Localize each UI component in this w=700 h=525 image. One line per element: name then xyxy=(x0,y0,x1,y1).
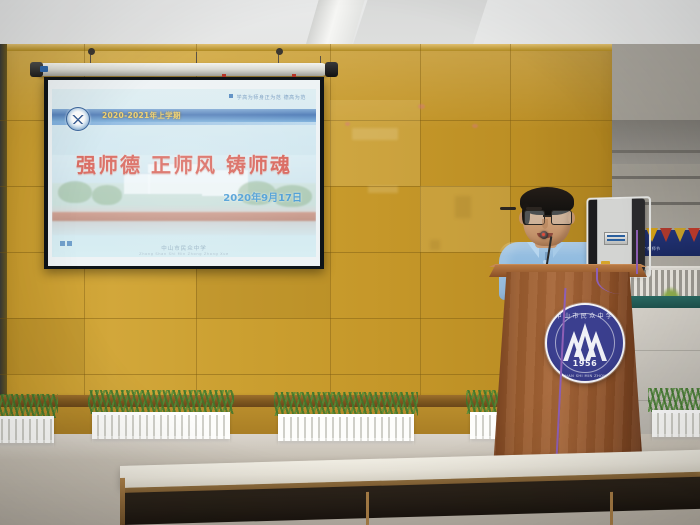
wall-stain xyxy=(430,240,440,250)
wall-mark xyxy=(472,124,478,128)
slide-motto: 学高为师身正为范 德高为范 xyxy=(229,94,306,101)
corridor-ceiling xyxy=(612,120,700,164)
bullet-square-icon xyxy=(229,94,233,98)
planter-grass xyxy=(0,394,58,418)
picket-fence-planter xyxy=(0,412,54,440)
speaker-eyebrow-left xyxy=(500,207,516,210)
campus-running-track xyxy=(52,212,316,221)
picket-fence-planter xyxy=(92,408,230,436)
microphone-led xyxy=(542,233,545,236)
screen-roller-housing[interactable] xyxy=(36,63,328,76)
picket-fence-planter xyxy=(278,410,414,438)
table-divider xyxy=(366,492,369,525)
planter-reflection xyxy=(0,440,54,448)
corridor-green-band xyxy=(628,296,700,308)
projection-screen[interactable]: 学高为师身正为范 德高为范 2020-2021年上学期 强师德 正师风 铸师魂 … xyxy=(48,80,320,266)
table-divider xyxy=(610,492,613,525)
planter-grass xyxy=(88,390,234,414)
planter-fence xyxy=(278,414,414,441)
wire-hook xyxy=(276,48,283,55)
wall-mark xyxy=(418,104,425,109)
emblem-founding-year: 1956 xyxy=(547,359,623,368)
wall-seam xyxy=(420,44,421,396)
wall-scuff xyxy=(368,186,398,193)
wall-stain xyxy=(455,196,471,218)
picket-fence-planter xyxy=(652,406,700,434)
wall-seam xyxy=(330,44,331,396)
power-cable xyxy=(636,230,640,274)
slide-footer: 中山市民众中学 Zhong Shan Shi Min Zhong Zhong X… xyxy=(52,244,316,256)
wall-left-jamb xyxy=(0,44,7,434)
slide-footer-en: Zhong Shan Shi Min Zhong Zhong Xue xyxy=(52,252,316,256)
glasses-bridge xyxy=(543,215,551,217)
monitor-rear-label xyxy=(604,232,628,245)
slide-banner xyxy=(52,109,316,122)
planter-grass xyxy=(648,388,700,412)
campus-tree xyxy=(92,185,122,205)
assembly-hall-photo: 学高为师身正为范 德高为范 2020-2021年上学期 强师德 正师风 铸师魂 … xyxy=(0,0,700,525)
planter-fence xyxy=(0,416,54,443)
glasses-lens-right xyxy=(551,210,572,225)
wall-mark xyxy=(345,122,350,126)
corridor-rafter xyxy=(612,176,700,179)
planter-reflection xyxy=(652,434,700,442)
slide-term-label: 2020-2021年上学期 xyxy=(102,110,181,121)
podium-school-emblem: 中山市民众中学 1956 ZHONGSHAN SHI MIN ZHONG ZHO… xyxy=(545,303,625,383)
table-left-leg xyxy=(120,478,125,525)
roller-end-cap-right xyxy=(325,62,338,77)
bunting-flag xyxy=(688,228,700,242)
slide-date: 2020年9月17日 xyxy=(223,189,302,204)
planter-grass xyxy=(274,392,418,416)
planter-reflection xyxy=(278,438,414,446)
corridor-rafter xyxy=(612,150,700,153)
wire-hook xyxy=(88,48,95,55)
slide-title: 强师德 正师风 铸师魂 xyxy=(52,149,316,178)
emblem-school-name-en: ZHONGSHAN SHI MIN ZHONG ZHONG XUE xyxy=(547,374,623,378)
slide-banner-tail xyxy=(52,122,316,125)
campus-tree xyxy=(58,181,92,203)
roller-brand-logo xyxy=(40,66,48,72)
presentation-slide: 学高为师身正为范 德高为范 2020-2021年上学期 强师德 正师风 铸师魂 … xyxy=(52,89,316,257)
planter-fence xyxy=(652,410,700,437)
school-emblem-icon xyxy=(66,107,90,131)
planter-reflection xyxy=(92,436,230,444)
bunting-flag xyxy=(660,228,672,242)
emblem-school-name-cn: 中山市民众中学 xyxy=(547,311,623,320)
speaker-nose xyxy=(542,219,548,229)
wall-scuff xyxy=(352,128,398,140)
planter-fence xyxy=(92,412,230,439)
bunting-flag xyxy=(674,228,686,242)
